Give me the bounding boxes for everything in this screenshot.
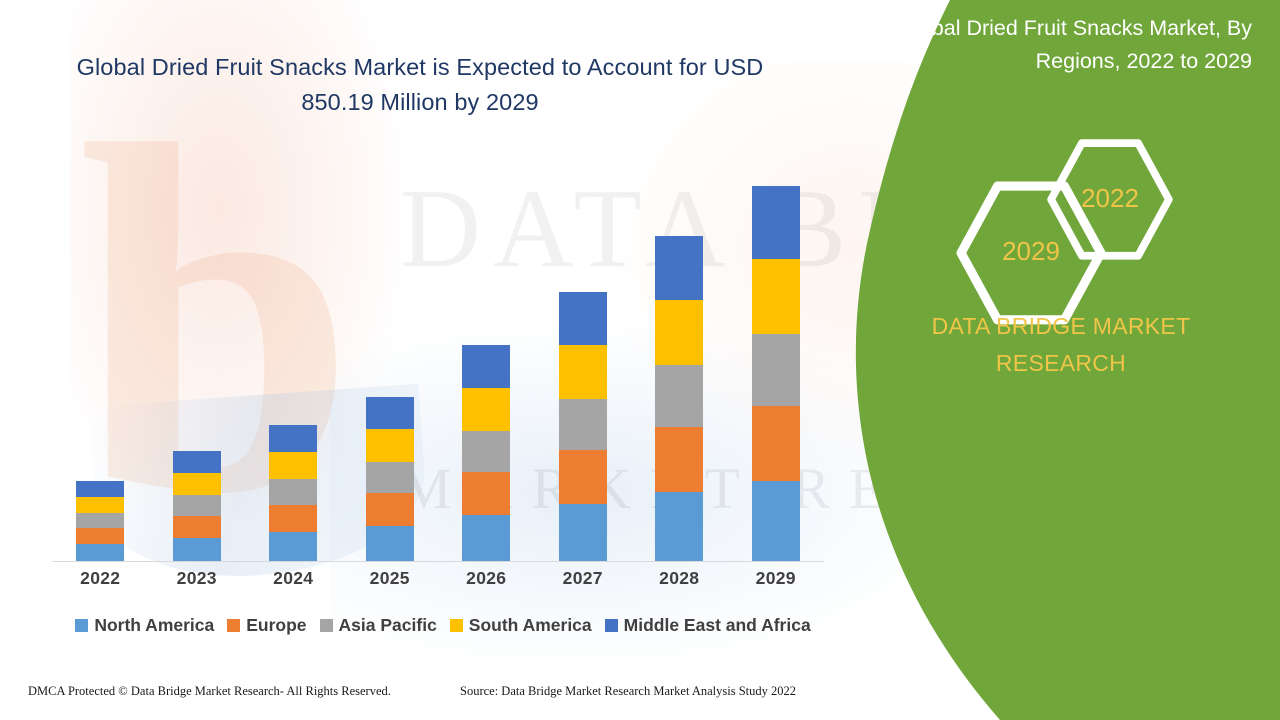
bar-segment-south-america[interactable] [173,473,221,495]
hexagon-end-year-label: 2029 [1002,236,1060,267]
bar-segment-asia-pacific[interactable] [366,462,414,493]
legend-swatch-icon [450,619,463,632]
chart-panel: b DATA BRIDGE MARKET RESEARCH Global Dri… [0,0,980,720]
bar-segment-europe[interactable] [655,427,703,492]
bar-segment-middle-east-and-africa[interactable] [462,345,510,388]
bar-column-2026 [438,150,535,561]
bar-column-2022 [52,150,149,561]
stacked-bar[interactable] [76,481,124,561]
bar-segment-north-america[interactable] [76,544,124,561]
hexagon-group: 2022 2029 [840,128,1280,288]
stacked-bar[interactable] [269,425,317,561]
bar-column-2024 [245,150,342,561]
bar-segment-south-america[interactable] [752,259,800,334]
bar-segment-middle-east-and-africa[interactable] [173,451,221,473]
legend-swatch-icon [75,619,88,632]
x-axis-labels: 20222023202420252026202720282029 [52,568,824,589]
legend-swatch-icon [227,619,240,632]
bar-segment-middle-east-and-africa[interactable] [655,236,703,300]
page-title: Global Dried Fruit Snacks Market is Expe… [60,50,780,120]
legend-label: South America [469,615,592,636]
bar-column-2023 [149,150,246,561]
legend-label: Asia Pacific [339,615,437,636]
bar-segment-asia-pacific[interactable] [76,513,124,528]
bar-segment-middle-east-and-africa[interactable] [269,425,317,452]
bar-segment-north-america[interactable] [655,492,703,561]
bar-segment-middle-east-and-africa[interactable] [76,481,124,497]
bar-segment-north-america[interactable] [752,481,800,561]
bar-segment-europe[interactable] [76,528,124,544]
legend-item-europe[interactable]: Europe [227,615,306,636]
bar-segment-north-america[interactable] [269,532,317,561]
stacked-bar[interactable] [559,292,607,561]
bar-segment-south-america[interactable] [269,452,317,479]
bar-column-2027 [535,150,632,561]
x-axis-label-2024: 2024 [245,568,342,589]
x-axis-line [52,561,824,562]
bar-segment-europe[interactable] [269,505,317,532]
x-axis-label-2023: 2023 [149,568,246,589]
bar-segment-north-america[interactable] [173,538,221,561]
x-axis-label-2028: 2028 [631,568,728,589]
bar-segment-asia-pacific[interactable] [269,479,317,505]
bar-column-2028 [631,150,728,561]
bar-segment-asia-pacific[interactable] [462,431,510,472]
stacked-bar[interactable] [655,236,703,561]
stacked-bar[interactable] [173,451,221,561]
brand-panel: Global Dried Fruit Snacks Market, By Reg… [840,0,1280,720]
legend-label: Middle East and Africa [624,615,811,636]
bar-segment-asia-pacific[interactable] [559,399,607,450]
bar-group [52,150,824,561]
chart-legend: North AmericaEuropeAsia PacificSouth Ame… [52,615,834,636]
bar-segment-north-america[interactable] [366,526,414,561]
bar-segment-south-america[interactable] [559,345,607,399]
bar-segment-north-america[interactable] [559,504,607,561]
bar-segment-middle-east-and-africa[interactable] [366,397,414,429]
bar-segment-south-america[interactable] [366,429,414,462]
bar-segment-north-america[interactable] [462,515,510,561]
bar-segment-europe[interactable] [366,493,414,526]
bar-segment-asia-pacific[interactable] [752,334,800,406]
footer-source-note: Source: Data Bridge Market Research Mark… [460,684,796,699]
x-axis-label-2027: 2027 [535,568,632,589]
bar-segment-europe[interactable] [462,472,510,515]
brand-panel-title: Global Dried Fruit Snacks Market, By Reg… [870,12,1252,78]
legend-swatch-icon [605,619,618,632]
stacked-bar[interactable] [462,345,510,561]
legend-label: Europe [246,615,306,636]
bar-column-2029 [728,150,825,561]
bar-segment-asia-pacific[interactable] [655,365,703,427]
bar-column-2025 [342,150,439,561]
bar-segment-south-america[interactable] [462,388,510,431]
x-axis-label-2025: 2025 [342,568,439,589]
bar-segment-europe[interactable] [173,516,221,538]
legend-swatch-icon [320,619,333,632]
bar-segment-south-america[interactable] [655,300,703,365]
brand-name: DATA BRIDGE MARKET RESEARCH [870,308,1252,382]
bar-segment-europe[interactable] [559,450,607,504]
bar-segment-south-america[interactable] [76,497,124,513]
bar-segment-middle-east-and-africa[interactable] [559,292,607,345]
x-axis-label-2029: 2029 [728,568,825,589]
bar-segment-asia-pacific[interactable] [173,495,221,516]
stacked-bar[interactable] [752,186,800,561]
hexagon-start-year-label: 2022 [1081,183,1139,214]
plot-area [52,150,824,562]
legend-label: North America [94,615,214,636]
footer-dmca-notice: DMCA Protected © Data Bridge Market Rese… [28,684,391,699]
legend-item-middle-east-and-africa[interactable]: Middle East and Africa [605,615,811,636]
x-axis-label-2026: 2026 [438,568,535,589]
legend-item-south-america[interactable]: South America [450,615,592,636]
stacked-bar[interactable] [366,397,414,561]
legend-item-asia-pacific[interactable]: Asia Pacific [320,615,437,636]
bar-segment-europe[interactable] [752,406,800,481]
bar-segment-middle-east-and-africa[interactable] [752,186,800,259]
legend-item-north-america[interactable]: North America [75,615,214,636]
x-axis-label-2022: 2022 [52,568,149,589]
